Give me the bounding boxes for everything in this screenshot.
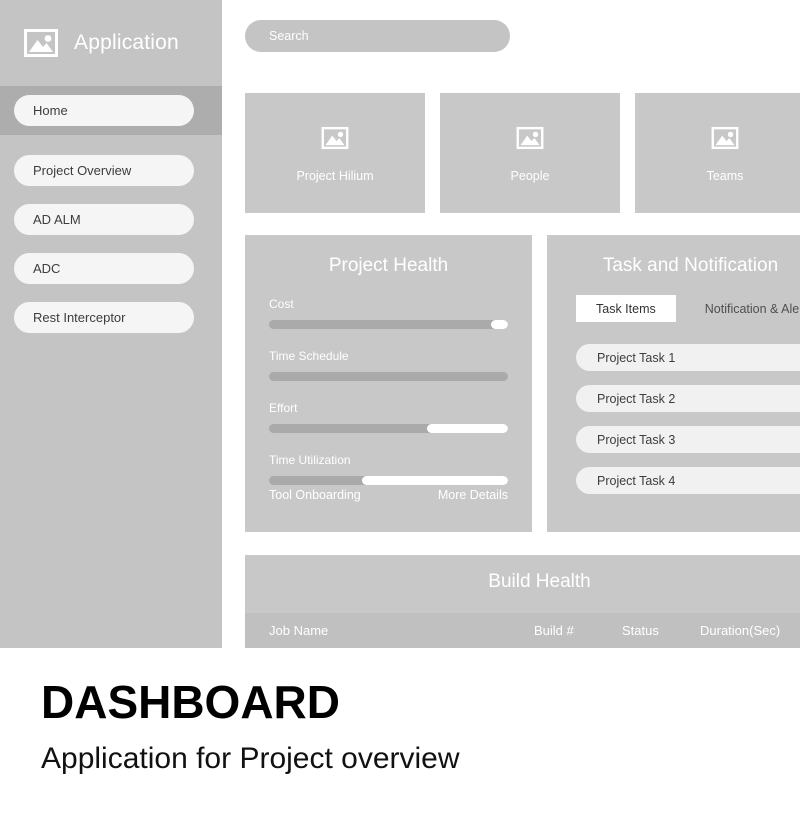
sidebar-item-rest-interceptor[interactable]: Rest Interceptor [0, 293, 222, 342]
tab-task-items[interactable]: Task Items [576, 295, 676, 322]
project-health-metrics: Cost Time Schedule Effort [245, 277, 532, 485]
build-health-panel: Build Health Job Name Build # Status Dur… [245, 555, 800, 648]
column-header-status: Status [622, 623, 700, 638]
list-item[interactable]: Project Task 4 [576, 467, 800, 494]
metric-label: Time Utilization [269, 453, 508, 467]
sidebar-nav: Home Project Overview AD ALM ADC [0, 86, 222, 648]
task-label: Project Task 2 [597, 392, 675, 406]
column-header-duration: Duration(Sec) [700, 623, 780, 638]
sidebar-item-label: Home [33, 103, 68, 118]
tool-onboarding-link[interactable]: Tool Onboarding [269, 488, 361, 502]
main-content: Search Project Hilium [222, 0, 800, 648]
tile-card-project-hilium[interactable]: Project Hilium [245, 93, 425, 213]
project-health-title: Project Health [245, 235, 532, 277]
progress-bar-fill [491, 320, 508, 329]
sidebar-item-label: Project Overview [33, 163, 131, 178]
image-placeholder-icon [710, 123, 740, 153]
task-label: Project Task 4 [597, 474, 675, 488]
metric-cost: Cost [269, 297, 508, 329]
sidebar: Application Home Project Overview AD ALM [0, 0, 222, 648]
metric-time-utilization: Time Utilization [269, 453, 508, 485]
progress-bar-fill [427, 424, 508, 433]
more-details-link[interactable]: More Details [438, 488, 508, 502]
progress-bar[interactable] [269, 372, 508, 381]
column-header-job-name: Job Name [269, 623, 534, 638]
image-placeholder-icon [22, 24, 60, 62]
sidebar-pill-ad-alm[interactable]: AD ALM [14, 204, 194, 235]
sidebar-item-label: Rest Interceptor [33, 310, 126, 325]
sidebar-item-project-overview[interactable]: Project Overview [0, 146, 222, 195]
tile-label: Teams [707, 169, 744, 183]
sidebar-item-adc[interactable]: ADC [0, 244, 222, 293]
tile-row: Project Hilium People [245, 93, 800, 213]
metric-time-schedule: Time Schedule [269, 349, 508, 381]
caption-block: DASHBOARD Application for Project overvi… [41, 678, 741, 775]
application-screenshot: Application Home Project Overview AD ALM [0, 0, 800, 648]
nav-spacer [0, 135, 222, 146]
sidebar-pill-adc[interactable]: ADC [14, 253, 194, 284]
sidebar-item-ad-alm[interactable]: AD ALM [0, 195, 222, 244]
search-placeholder: Search [269, 29, 309, 43]
tab-notification-alerts[interactable]: Notification & Alerts [685, 295, 800, 322]
tile-card-people[interactable]: People [440, 93, 620, 213]
sidebar-pill-rest-interceptor[interactable]: Rest Interceptor [14, 302, 194, 333]
progress-bar[interactable] [269, 320, 508, 329]
tab-label: Notification & Alerts [705, 302, 800, 316]
page-title: DASHBOARD [41, 678, 741, 728]
progress-bar[interactable] [269, 476, 508, 485]
search-input[interactable]: Search [245, 20, 510, 52]
list-item[interactable]: Project Task 1 [576, 344, 800, 371]
tasks-notification-panel: Task and Notification Task Items Notific… [547, 235, 800, 532]
image-placeholder-icon [320, 123, 350, 153]
tile-card-teams[interactable]: Teams [635, 93, 800, 213]
task-list: Project Task 1 Project Task 2 Project Ta… [547, 344, 800, 494]
sidebar-item-home[interactable]: Home [0, 86, 222, 135]
image-placeholder-icon [515, 123, 545, 153]
page-subtitle: Application for Project overview [41, 742, 741, 775]
task-label: Project Task 3 [597, 433, 675, 447]
list-item[interactable]: Project Task 3 [576, 426, 800, 453]
tile-label: People [511, 169, 550, 183]
metric-label: Cost [269, 297, 508, 311]
sidebar-item-label: AD ALM [33, 212, 81, 227]
build-health-table-header: Job Name Build # Status Duration(Sec) [245, 613, 800, 648]
list-item[interactable]: Project Task 2 [576, 385, 800, 412]
tile-label: Project Hilium [296, 169, 373, 183]
build-health-title: Build Health [245, 555, 800, 593]
metric-label: Time Schedule [269, 349, 508, 363]
tasks-tab-bar: Task Items Notification & Alerts [547, 295, 800, 322]
metric-effort: Effort [269, 401, 508, 433]
progress-bar-fill [362, 476, 508, 485]
sidebar-item-label: ADC [33, 261, 60, 276]
tab-label: Task Items [596, 302, 656, 316]
metric-label: Effort [269, 401, 508, 415]
task-label: Project Task 1 [597, 351, 675, 365]
brand-header: Application [0, 0, 222, 86]
project-health-footer: Tool Onboarding More Details [269, 488, 508, 502]
tasks-panel-title: Task and Notification [547, 235, 800, 277]
column-header-build-number: Build # [534, 623, 622, 638]
brand-title: Application [74, 31, 179, 55]
project-health-panel: Project Health Cost Time Schedule Effort [245, 235, 532, 532]
sidebar-pill-home[interactable]: Home [14, 95, 194, 126]
progress-bar[interactable] [269, 424, 508, 433]
sidebar-pill-project-overview[interactable]: Project Overview [14, 155, 194, 186]
